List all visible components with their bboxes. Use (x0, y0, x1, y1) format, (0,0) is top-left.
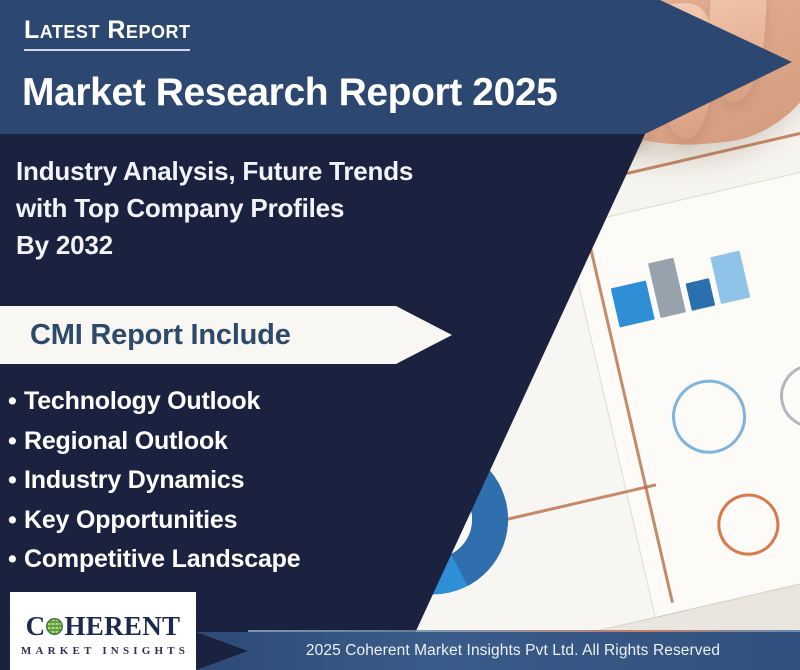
list-item-label: Industry Dynamics (24, 466, 244, 494)
bullet-icon: • (8, 382, 24, 422)
logo-globe-icon (46, 618, 63, 635)
bullet-icon: • (8, 422, 24, 462)
list-item: •Technology Outlook (8, 382, 300, 422)
logo-letter-c: C (26, 613, 46, 640)
list-item: •Competitive Landscape (8, 540, 300, 580)
list-item: •Key Opportunities (8, 501, 300, 541)
subtitle-line-3: By 2032 (16, 227, 413, 264)
list-item-label: Key Opportunities (24, 506, 237, 534)
coherent-market-insights-logo: C HERENT MARKET INSIGHTS (10, 592, 196, 670)
logo-wordmark: C HERENT (26, 613, 181, 640)
bullet-icon: • (8, 461, 24, 501)
report-banner: Latest Report Market Research Report 202… (0, 0, 800, 670)
subtitle-block: Industry Analysis, Future Trends with To… (16, 153, 413, 264)
list-item: •Industry Dynamics (8, 461, 300, 501)
list-item-label: Technology Outlook (24, 387, 260, 415)
page-title: Market Research Report 2025 (22, 71, 557, 115)
cmi-report-include-banner: CMI Report Include (0, 306, 452, 364)
list-item: •Regional Outlook (8, 422, 300, 462)
logo-tagline: MARKET INSIGHTS (17, 645, 189, 657)
bullet-icon: • (8, 540, 24, 580)
subtitle-line-2: with Top Company Profiles (16, 190, 413, 227)
list-item-label: Regional Outlook (24, 427, 228, 455)
subtitle-line-1: Industry Analysis, Future Trends (16, 153, 413, 190)
footer-bar: 2025 Coherent Market Insights Pvt Ltd. A… (196, 632, 800, 670)
bullet-icon: • (8, 501, 24, 541)
copyright-text: 2025 Coherent Market Insights Pvt Ltd. A… (306, 642, 720, 660)
report-include-list: •Technology Outlook •Regional Outlook •I… (8, 382, 300, 580)
list-item-label: Competitive Landscape (24, 545, 300, 573)
logo-word-rest: HERENT (64, 613, 180, 640)
cmi-banner-label: CMI Report Include (30, 319, 291, 352)
eyebrow-label: Latest Report (24, 18, 190, 51)
